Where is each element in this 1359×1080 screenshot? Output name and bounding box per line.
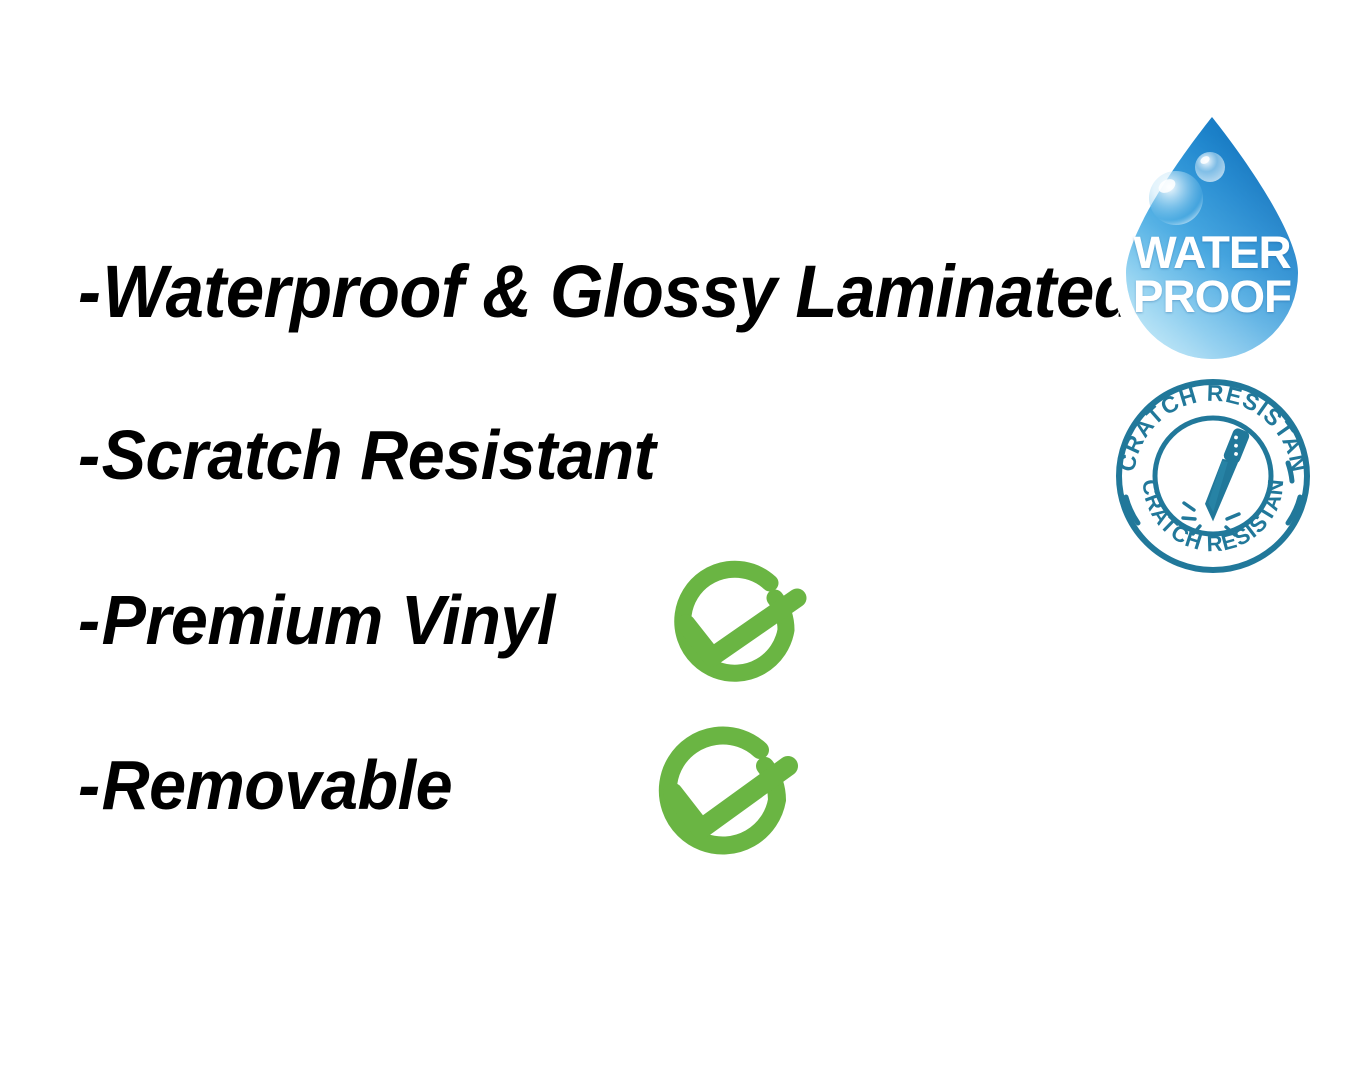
feature-label: Removable <box>102 746 453 824</box>
scratch-resistant-badge: SCRATCH RESISTANT SCRATCH RESISTANT <box>1112 377 1314 575</box>
feature-graphic-canvas: -Waterproof & Glossy Laminated -Scratch … <box>0 0 1359 1080</box>
knife-icon <box>1201 424 1251 525</box>
bullet-dash: - <box>78 255 100 329</box>
check-circle-icon <box>642 556 832 708</box>
bullet-dash: - <box>78 750 100 820</box>
check-circle-icon <box>628 720 824 885</box>
feature-label: Scratch Resistant <box>102 416 656 494</box>
seal-text-top: SCRATCH RESISTANT <box>1112 377 1313 475</box>
feature-item-scratch-resistant: -Scratch Resistant <box>78 420 1038 585</box>
check-circle-removable <box>628 720 824 885</box>
feature-label: Waterproof & Glossy Laminated <box>102 250 1135 333</box>
scratch-resistant-seal-icon: SCRATCH RESISTANT SCRATCH RESISTANT <box>1112 377 1314 575</box>
bullet-dash: - <box>78 420 100 490</box>
waterproof-badge: WATER PROOF <box>1098 103 1326 365</box>
knife-blade <box>1201 457 1238 523</box>
water-bubble-large <box>1149 171 1203 225</box>
water-drop-icon <box>1098 103 1326 365</box>
feature-label: Premium Vinyl <box>102 581 555 659</box>
feature-item-premium-vinyl: -Premium Vinyl <box>78 585 1038 750</box>
check-circle-premium-vinyl <box>642 556 832 708</box>
feature-item-removable: -Removable <box>78 750 1038 915</box>
feature-list: -Waterproof & Glossy Laminated -Scratch … <box>78 255 1088 915</box>
feature-item-waterproof-glossy-laminated: -Waterproof & Glossy Laminated <box>78 255 1017 420</box>
water-bubble-small <box>1195 152 1225 182</box>
bullet-dash: - <box>78 585 100 655</box>
